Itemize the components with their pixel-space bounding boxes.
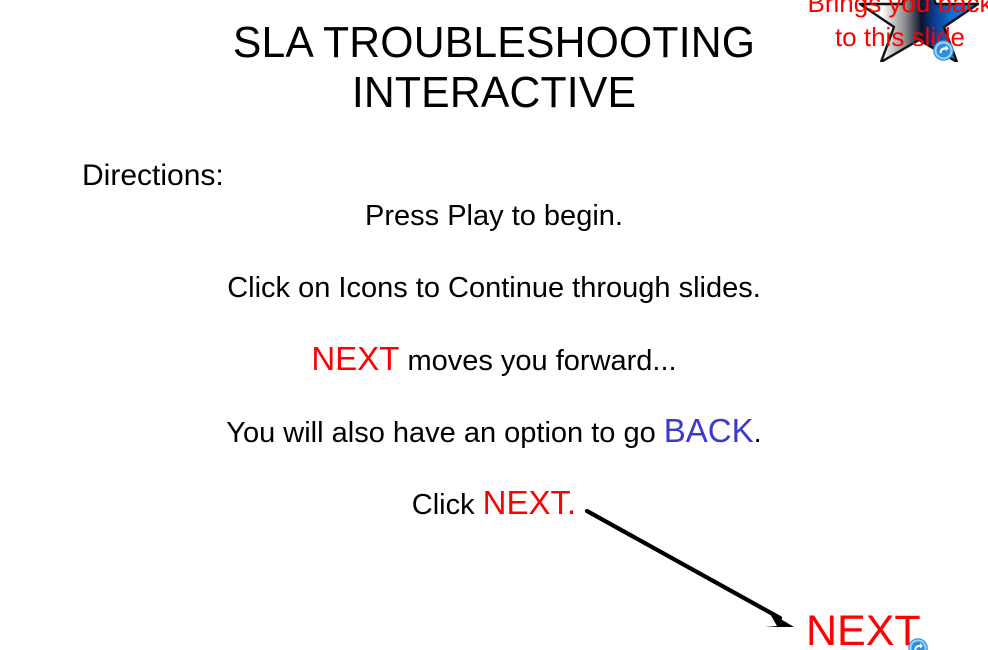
next-moves-rest: moves you forward... <box>399 345 676 377</box>
instruction-click-next: Click NEXT. <box>0 485 988 523</box>
click-next-keyword[interactable]: NEXT. <box>483 484 577 521</box>
back-option-suffix: . <box>754 417 762 449</box>
click-next-prefix: Click <box>412 489 483 521</box>
return-caption-line-2: to this slide <box>770 20 988 54</box>
instruction-click-icons: Click on Icons to Continue through slide… <box>0 270 988 306</box>
directions-label: Directions: <box>82 157 224 195</box>
title-line-2: INTERACTIVE <box>15 68 973 118</box>
slide-canvas: SLA TROUBLESHOOTING INTERACTIVE Directio… <box>0 0 988 650</box>
return-caption-line-1: Brings you back <box>770 0 988 20</box>
next-keyword[interactable]: NEXT <box>311 340 399 377</box>
back-keyword[interactable]: BACK <box>664 412 754 449</box>
instruction-next-moves: NEXT moves you forward... <box>0 341 988 379</box>
instruction-back-option: You will also have an option to go BACK. <box>0 413 988 451</box>
return-circle-arrow-icon[interactable] <box>933 40 954 61</box>
return-badge-caption: Brings you back to this slide <box>770 0 988 54</box>
back-option-prefix: You will also have an option to go <box>226 417 663 449</box>
instruction-press-play: Press Play to begin. <box>0 198 988 234</box>
forward-circle-icon[interactable] <box>908 638 928 650</box>
